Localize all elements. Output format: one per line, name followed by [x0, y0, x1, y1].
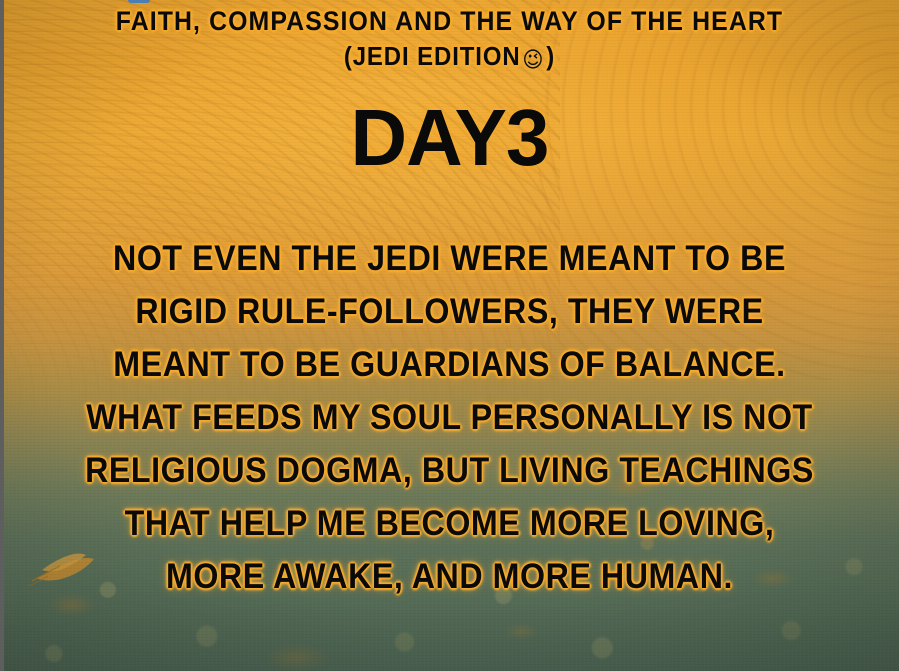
quote-line: WHAT FEEDS MY SOUL PERSONALLY IS NOT	[36, 391, 863, 444]
header-edition-suffix: )	[546, 41, 555, 71]
winking-face-icon: 😉	[522, 48, 544, 73]
header-edition-prefix: (JEDI EDITION	[344, 41, 521, 71]
quote-line: THAT HELP ME BECOME MORE LOVING,	[36, 497, 863, 550]
quote-line: MEANT TO BE GUARDIANS OF BALANCE.	[36, 338, 863, 391]
quote-line: RELIGIOUS DOGMA, BUT LIVING TEACHINGS	[36, 444, 863, 497]
quote-line: MORE AWAKE, AND MORE HUMAN.	[36, 550, 863, 603]
quote-body: NOT EVEN THE JEDI WERE MEANT TO BE RIGID…	[0, 232, 899, 603]
day-title: DAY3	[9, 98, 890, 178]
quote-line: RIGID RULE-FOLLOWERS, THEY WERE	[36, 285, 863, 338]
header-title-line1: FAITH, COMPASSION AND THE WAY OF THE HEA…	[36, 6, 863, 36]
quote-poster: FAITH, COMPASSION AND THE WAY OF THE HEA…	[0, 0, 899, 671]
poster-header: FAITH, COMPASSION AND THE WAY OF THE HEA…	[0, 6, 899, 74]
poster-content: FAITH, COMPASSION AND THE WAY OF THE HEA…	[0, 0, 899, 671]
quote-line: NOT EVEN THE JEDI WERE MEANT TO BE	[36, 232, 863, 285]
header-title-line2: (JEDI EDITION😉)	[36, 42, 863, 73]
